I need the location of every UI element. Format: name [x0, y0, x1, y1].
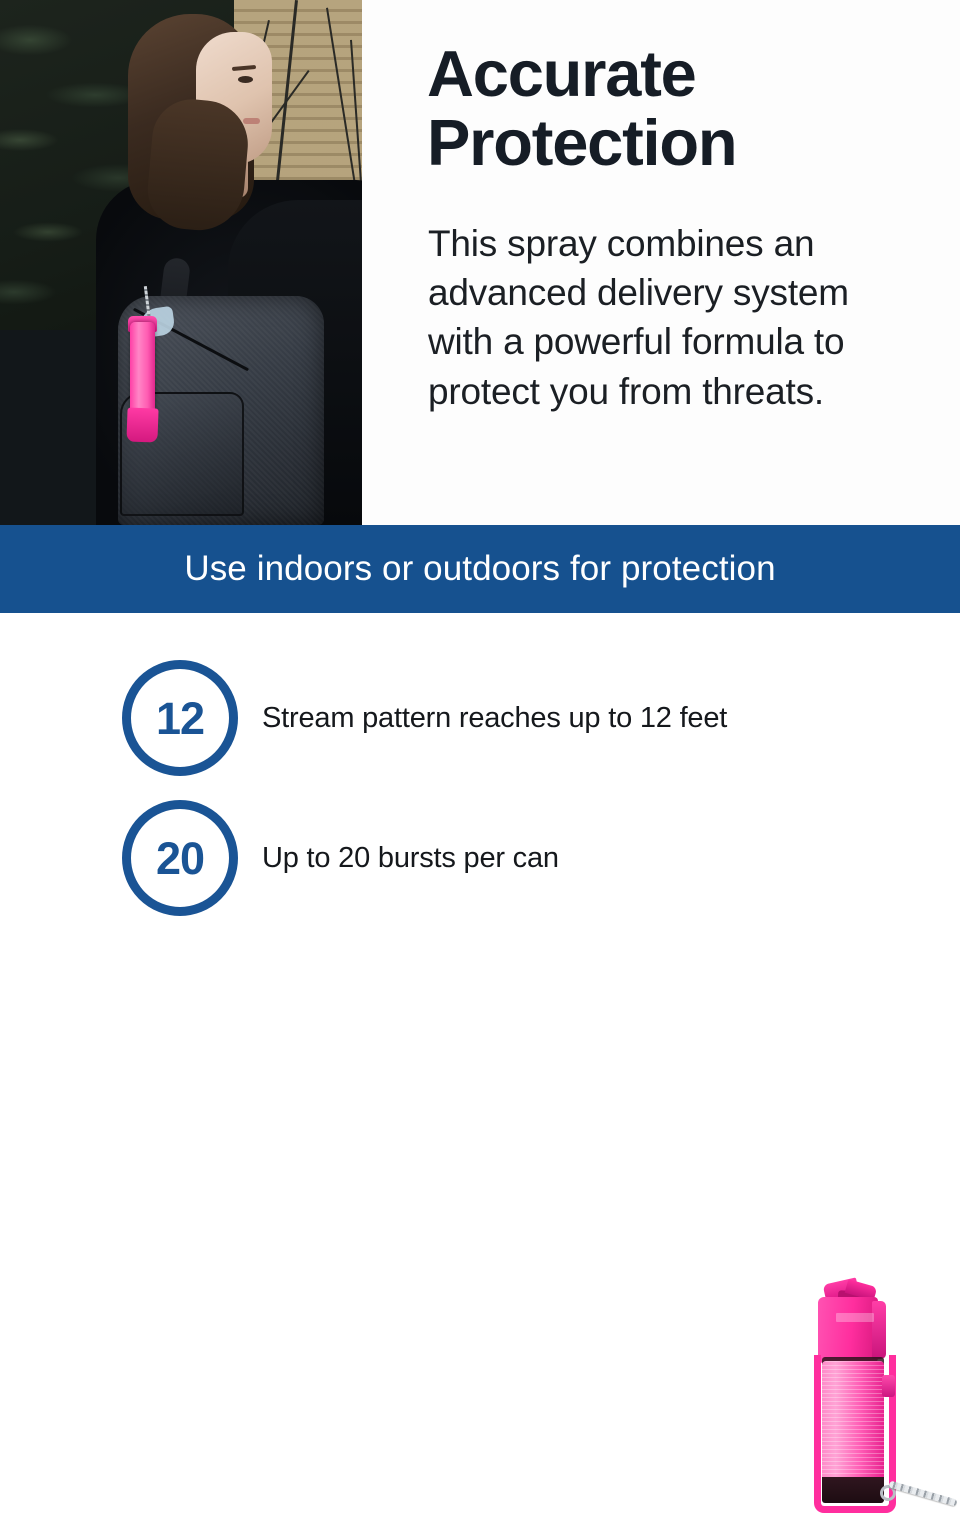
page-title: Accurate Protection: [427, 40, 947, 178]
lifestyle-photo: [0, 0, 362, 525]
spray-side-tab: [882, 1375, 895, 1397]
eye: [238, 76, 253, 83]
product-image: [800, 1281, 960, 1521]
lips: [243, 118, 260, 124]
spray-body: [130, 322, 155, 414]
spray-base: [126, 407, 158, 442]
feature-row-range: 12 Stream pattern reaches up to 12 feet: [122, 660, 727, 776]
feature-label-range: Stream pattern reaches up to 12 feet: [262, 702, 727, 735]
usage-banner-text: Use indoors or outdoors for protection: [184, 549, 775, 589]
badge-number: 20: [156, 836, 204, 881]
feature-list: 12 Stream pattern reaches up to 12 feet …: [0, 613, 960, 960]
spray-head-label: [836, 1313, 874, 1322]
hero-section: Accurate Protection This spray combines …: [0, 0, 960, 525]
badge-12: 12: [122, 660, 238, 776]
spray-head-tab: [872, 1301, 886, 1359]
usage-banner: Use indoors or outdoors for protection: [0, 525, 960, 613]
hero-copy: Accurate Protection This spray combines …: [362, 0, 960, 525]
keychain-chain: [888, 1480, 957, 1506]
badge-number: 12: [156, 696, 204, 741]
feature-label-bursts: Up to 20 bursts per can: [262, 842, 559, 875]
spray-head: [818, 1297, 878, 1363]
hero-description: This spray combines an advanced delivery…: [428, 219, 898, 416]
infographic-canvas: Accurate Protection This spray combines …: [0, 0, 960, 960]
badge-20: 20: [122, 800, 238, 916]
feature-row-bursts: 20 Up to 20 bursts per can: [122, 800, 559, 916]
